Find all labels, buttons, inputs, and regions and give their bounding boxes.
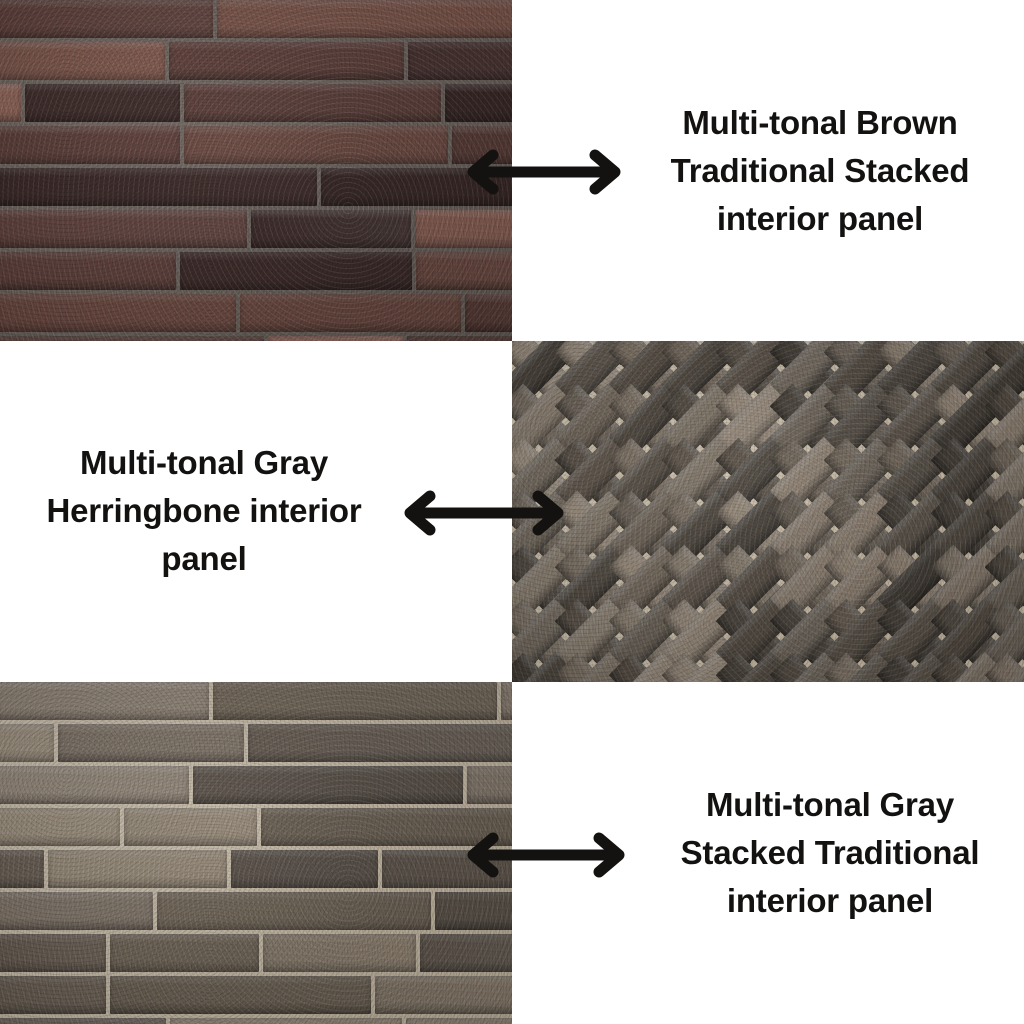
caption-line-1: Multi-tonal Gray: [636, 781, 1024, 829]
brick-unit: [110, 976, 371, 1014]
brick-course: [0, 976, 512, 1014]
brick-unit: [263, 934, 416, 972]
caption-gray-herringbone: Multi-tonal Gray Herringbone interior pa…: [4, 428, 404, 593]
brick-course: [0, 1018, 512, 1024]
brick-course: [0, 42, 512, 80]
brick-course: [0, 0, 512, 38]
brick-unit: [375, 976, 512, 1014]
brick-unit: [408, 42, 512, 80]
brick-unit: [193, 766, 463, 804]
brick-unit: [0, 850, 44, 888]
brick-texture-gray: [0, 682, 512, 1024]
brick-unit: [0, 682, 209, 720]
brick-course: [0, 210, 512, 248]
brick-unit: [0, 892, 153, 930]
brick-unit: [420, 934, 512, 972]
brick-unit: [435, 892, 512, 930]
brick-unit: [465, 294, 512, 332]
brick-unit: [213, 682, 497, 720]
brick-unit: [0, 808, 120, 846]
double-arrow-icon: [462, 830, 630, 880]
double-arrow-icon: [399, 488, 569, 538]
brick-unit: [58, 724, 244, 762]
brick-course: [0, 294, 512, 332]
brick-unit: [445, 84, 512, 122]
brick-unit: [0, 976, 106, 1014]
brick-course: [0, 850, 512, 888]
swatch-brown-traditional-stacked: [0, 0, 512, 341]
brick-unit: [251, 210, 411, 248]
swatch-gray-herringbone: [512, 341, 1024, 682]
brick-unit: [184, 84, 441, 122]
brick-unit: [25, 84, 180, 122]
brick-unit: [406, 1018, 512, 1024]
brick-texture-herringbone: [512, 341, 1024, 682]
brick-unit: [110, 934, 259, 972]
caption-line-2: Stacked Traditional: [636, 829, 1024, 877]
swatch-gray-stacked-traditional: [0, 682, 512, 1024]
brick-unit: [184, 126, 448, 164]
caption-brown-traditional-stacked: Multi-tonal Brown Traditional Stacked in…: [620, 88, 1020, 253]
brick-unit: [170, 1018, 402, 1024]
brick-unit: [0, 42, 165, 80]
brick-unit: [467, 766, 512, 804]
caption-line-3: interior panel: [636, 877, 1024, 925]
caption-line-2: Herringbone interior: [4, 487, 404, 535]
brick-course: [0, 934, 512, 972]
caption-line-3: panel: [4, 535, 404, 583]
brick-unit: [169, 42, 404, 80]
caption-line-1: Multi-tonal Brown: [620, 99, 1020, 147]
brick-unit: [0, 168, 317, 206]
brick-unit: [157, 892, 431, 930]
brick-unit: [248, 724, 512, 762]
brick-course: [0, 84, 512, 122]
brick-unit: [0, 0, 213, 38]
brick-course: [0, 252, 512, 290]
brick-texture-brown: [0, 0, 512, 341]
brick-course: [0, 766, 512, 804]
double-arrow-icon: [462, 147, 626, 197]
brick-unit: [415, 210, 512, 248]
brick-unit: [501, 682, 512, 720]
brick-unit: [48, 850, 227, 888]
comparison-collage: Multi-tonal Brown Traditional Stacked in…: [0, 0, 1024, 1024]
brick-unit: [0, 294, 236, 332]
caption-gray-stacked-traditional: Multi-tonal Gray Stacked Traditional int…: [636, 770, 1024, 935]
brick-unit: [0, 210, 247, 248]
brick-course: [0, 126, 512, 164]
brick-unit: [416, 252, 512, 290]
brick-unit: [124, 808, 257, 846]
brick-unit: [240, 294, 461, 332]
brick-unit: [231, 850, 378, 888]
caption-line-1: Multi-tonal Gray: [4, 439, 404, 487]
caption-line-2: Traditional Stacked: [620, 147, 1020, 195]
brick-course: [0, 724, 512, 762]
brick-unit: [0, 1018, 166, 1024]
brick-unit: [0, 84, 21, 122]
brick-unit: [0, 126, 180, 164]
brick-unit: [0, 766, 189, 804]
brick-course: [0, 808, 512, 846]
brick-course: [0, 168, 512, 206]
brick-unit: [180, 252, 412, 290]
brick-unit: [0, 252, 176, 290]
brick-unit: [217, 0, 512, 38]
brick-course: [0, 892, 512, 930]
brick-course: [0, 682, 512, 720]
brick-unit: [0, 934, 106, 972]
brick-unit: [0, 724, 54, 762]
caption-line-3: interior panel: [620, 195, 1020, 243]
